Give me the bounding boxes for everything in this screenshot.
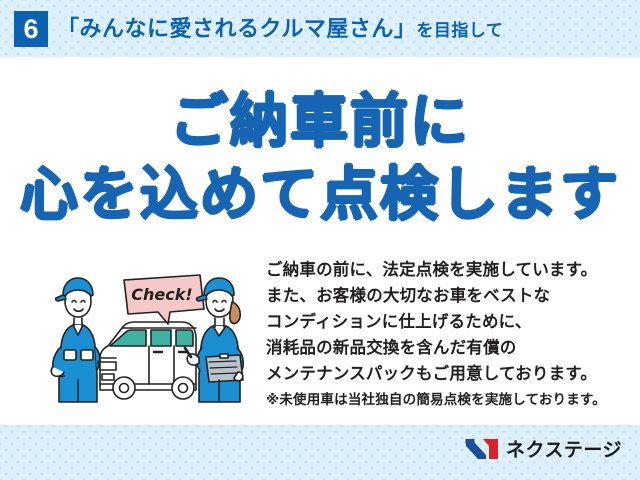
van-icon — [100, 322, 196, 399]
header-title-tail: を目指して — [416, 21, 503, 40]
section-number-badge: 6 — [14, 11, 48, 47]
speech-bubble-label: Check! — [131, 285, 192, 304]
brand-logo-text: ネクステージ — [506, 435, 622, 462]
content-panel: ご納車前に 心を込めて点検します ご納車の前に、法定点検を実施しています。 また… — [0, 57, 640, 425]
headline-line-1: ご納車前に — [170, 89, 470, 154]
headline-line-2: 心を込めて点検します — [0, 158, 640, 231]
nextage-n-logo-icon — [465, 438, 499, 460]
body-line-4: 消耗品の新品交換を含んだ有償の — [266, 339, 517, 357]
body-paragraph: ご納車の前に、法定点検を実施しています。 また、お客様の大切なお車をベストな コ… — [266, 257, 626, 412]
promo-banner: 6 「みんなに愛されるクルマ屋さん」を目指して ご納車前に 心を込めて点検します… — [0, 0, 640, 480]
header: 6 「みんなに愛されるクルマ屋さん」を目指して — [0, 0, 640, 57]
body-note: ※未使用車は当社独自の簡易点検を実施しております。 — [266, 388, 626, 412]
footer: ネクステージ — [0, 425, 640, 480]
body-line-1: ご納車の前に、法定点検を実施しています。 — [266, 261, 597, 279]
body-line-2: また、お客様の大切なお車をベストな — [266, 287, 550, 305]
headline: ご納車前に 心を込めて点検します — [0, 85, 640, 231]
header-title-quoted: 「みんなに愛されるクルマ屋さん」 — [57, 16, 416, 41]
body-line-5: メンテナンスパックもご用意しております。 — [266, 365, 597, 383]
brand-logo: ネクステージ — [465, 435, 622, 462]
mechanics-illustration: Check! — [50, 262, 265, 410]
body-line-3: コンディションに仕上げるために、 — [266, 313, 532, 331]
header-title: 「みんなに愛されるクルマ屋さん」を目指して — [57, 14, 503, 46]
